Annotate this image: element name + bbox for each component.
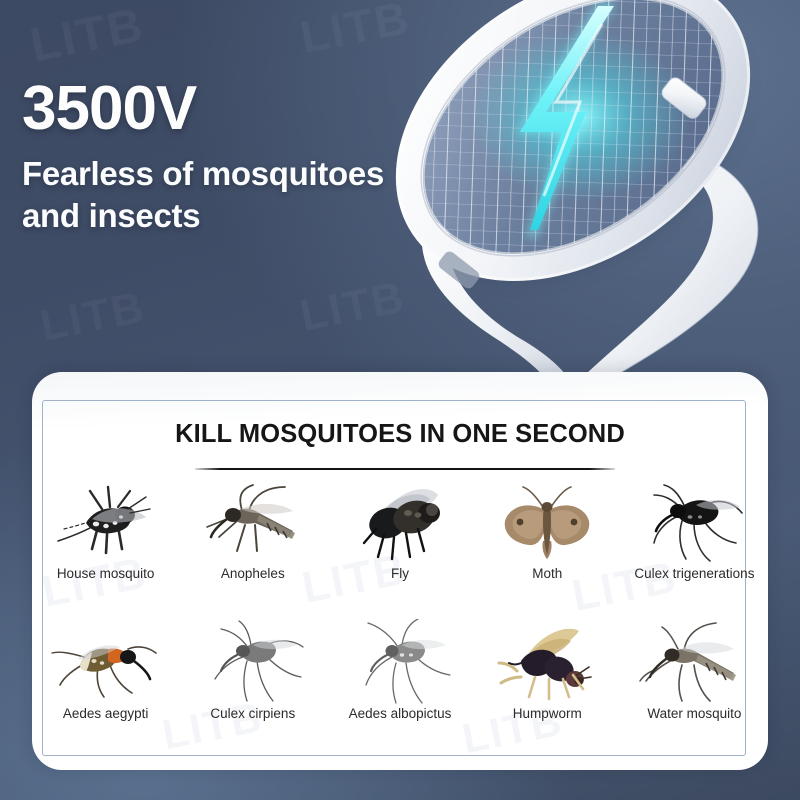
insect-cell: Fly <box>326 476 473 616</box>
insect-label: Culex cirpiens <box>210 706 295 721</box>
mosquito-culex-icon <box>638 476 750 568</box>
insect-label: Fly <box>391 566 409 581</box>
electric-mosquito-swatter-image <box>330 0 800 408</box>
headline-block: 3500V Fearless of mosquitoes and insects <box>22 78 384 237</box>
insect-cell: House mosquito <box>32 476 179 616</box>
mosquito-anopheles-icon <box>197 476 309 568</box>
insect-cell: Anopheles <box>179 476 326 616</box>
insect-cell: Humpworm <box>474 616 621 756</box>
moth-icon <box>491 476 603 568</box>
mosquito-culex-cirpiens-icon <box>197 616 309 708</box>
tagline-line-2: and insects <box>22 195 384 237</box>
insect-label: Aedes albopictus <box>349 706 452 721</box>
insect-label: Culex trigenerations <box>634 566 754 581</box>
mosquito-striped-icon <box>50 476 162 568</box>
insect-label: Water mosquito <box>647 706 741 721</box>
insect-cell: Water mosquito <box>621 616 768 756</box>
insect-label: House mosquito <box>57 566 155 581</box>
card-title: KILL MOSQUITOES IN ONE SECOND <box>32 420 768 449</box>
insect-row: House mosquito <box>32 476 768 616</box>
insect-grid: House mosquito <box>32 476 768 756</box>
tagline: Fearless of mosquitoes and insects <box>22 153 384 237</box>
title-underline <box>195 468 615 470</box>
insect-cell: Aedes albopictus <box>326 616 473 756</box>
mosquito-water-icon <box>638 616 750 708</box>
mosquito-aedes-aegypti-icon <box>50 616 162 708</box>
insect-label: Anopheles <box>221 566 285 581</box>
insect-chart-card: LITB LITB LITB LITB LITB KILL MOSQUITOES… <box>32 372 768 770</box>
insect-cell: Aedes aegypti <box>32 616 179 756</box>
insect-cell: Culex trigenerations <box>621 476 768 616</box>
wasp-icon <box>491 616 603 708</box>
insect-label: Aedes aegypti <box>63 706 149 721</box>
insect-cell: Moth <box>474 476 621 616</box>
insect-row: Aedes aegypti <box>32 616 768 756</box>
mosquito-albopictus-icon <box>344 616 456 708</box>
insect-cell: Culex cirpiens <box>179 616 326 756</box>
tagline-line-1: Fearless of mosquitoes <box>22 153 384 195</box>
insect-label: Humpworm <box>513 706 582 721</box>
product-advertisement-image: LITB LITB LITB LITB LITB <box>0 0 800 800</box>
insect-label: Moth <box>532 566 562 581</box>
housefly-icon <box>344 476 456 568</box>
voltage-label: 3500V <box>22 78 384 140</box>
